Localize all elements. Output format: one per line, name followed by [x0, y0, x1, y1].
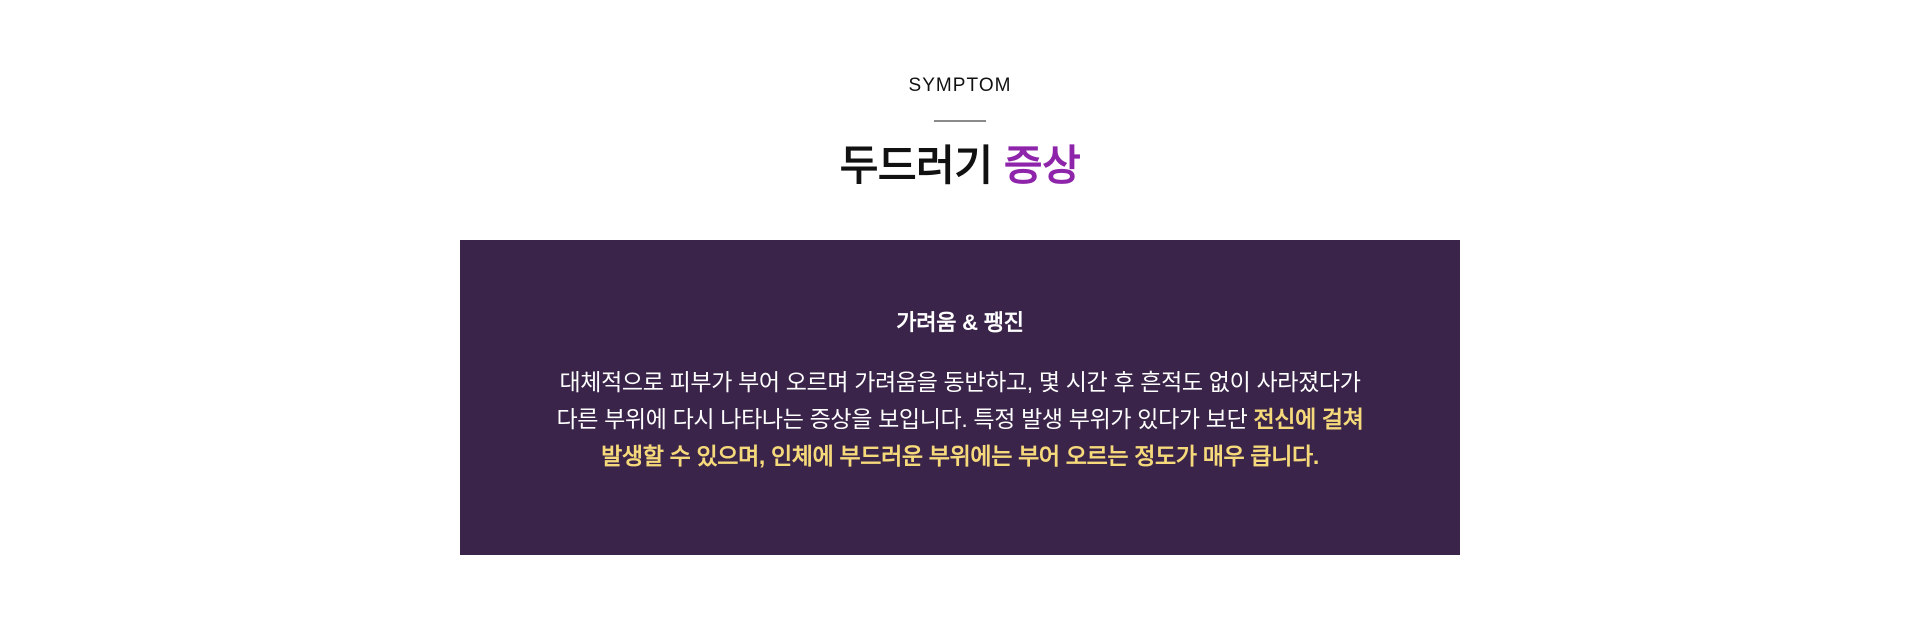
symptom-section-page: SYMPTOM 두드러기 증상 가려움 & 팽진 대체적으로 피부가 부어 오르… [0, 0, 1920, 635]
page-title-space [993, 142, 1004, 189]
section-eyebrow-label: SYMPTOM [0, 0, 1920, 98]
header-divider-wrap [0, 112, 1920, 122]
page-title-accent: 증상 [1004, 142, 1080, 189]
header-divider-line [934, 120, 986, 122]
panel-body-line-2-highlight: 전신에 걸쳐 [1253, 406, 1363, 432]
panel-body-line-1-text: 대체적으로 피부가 부어 오르며 가려움을 동반하고, 몇 시간 후 흔적도 없… [559, 369, 1360, 395]
page-title-plain: 두드러기 [840, 142, 993, 189]
symptom-info-panel: 가려움 & 팽진 대체적으로 피부가 부어 오르며 가려움을 동반하고, 몇 시… [460, 240, 1460, 555]
section-header: SYMPTOM 두드러기 증상 [0, 0, 1920, 194]
panel-body-line-1: 대체적으로 피부가 부어 오르며 가려움을 동반하고, 몇 시간 후 흔적도 없… [480, 364, 1440, 401]
panel-body-line-2-plain: 다른 부위에 다시 나타나는 증상을 보입니다. 특정 발생 부위가 있다가 보… [556, 406, 1253, 432]
page-title: 두드러기 증상 [0, 122, 1920, 194]
panel-body-line-3: 발생할 수 있으며, 인체에 부드러운 부위에는 부어 오르는 정도가 매우 큽… [480, 438, 1440, 475]
panel-title: 가려움 & 팽진 [460, 240, 1460, 338]
panel-body-line-3-highlight: 발생할 수 있으며, 인체에 부드러운 부위에는 부어 오르는 정도가 매우 큽… [601, 443, 1319, 469]
panel-body-text: 대체적으로 피부가 부어 오르며 가려움을 동반하고, 몇 시간 후 흔적도 없… [460, 338, 1460, 475]
panel-body-line-2: 다른 부위에 다시 나타나는 증상을 보입니다. 특정 발생 부위가 있다가 보… [480, 401, 1440, 438]
